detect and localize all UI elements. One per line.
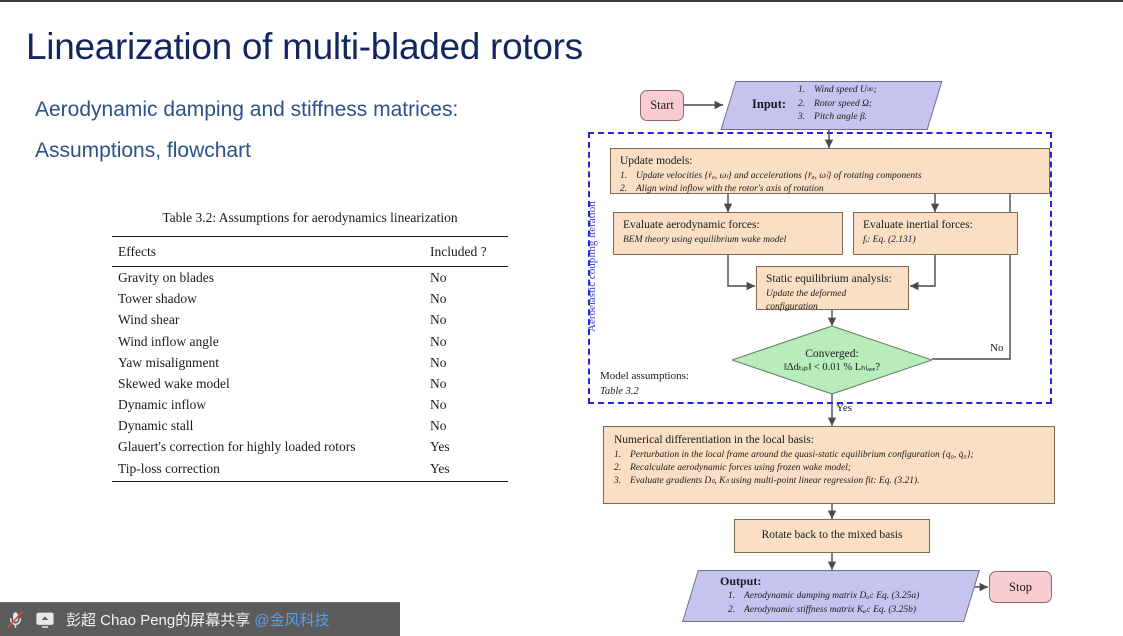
sharer-name: 彭超 Chao Peng的屏幕共享 — [66, 612, 254, 629]
table-cell-included: No — [426, 309, 508, 330]
list-number: 2. — [728, 603, 744, 617]
static-equilibrium-title: Static equilibrium analysis: — [766, 272, 899, 288]
table-cell-included: No — [426, 288, 508, 309]
aerodynamic-forces-title: Evaluate aerodynamic forces: — [623, 218, 833, 234]
update-models-list-item: 1.Update velocities {ṙₐ, ωₗ} and acceler… — [620, 170, 1040, 183]
numerical-differentiation-title: Numerical differentiation in the local b… — [614, 433, 1044, 449]
microphone-muted-icon[interactable] — [0, 610, 30, 629]
numerical-differentiation-item-list: 1.Perturbation in the local frame around… — [614, 449, 1044, 489]
input-node[interactable]: Input: 1.Wind speed U∞;2.Rotor speed Ω;3… — [728, 81, 933, 128]
input-item-list: 1.Wind speed U∞;2.Rotor speed Ω;3.Pitch … — [798, 84, 877, 125]
list-text: Recalculate aerodynamic forces using fro… — [630, 462, 851, 475]
table-row: Yaw misalignmentNo — [112, 352, 508, 373]
screen-share-icon[interactable] — [30, 611, 60, 629]
inertial-forces-sub: fᵢ: Eq. (2.131) — [863, 234, 1008, 247]
table-header-cell: Effects — [112, 237, 426, 267]
table-row: Glauert's correction for highly loaded r… — [112, 436, 508, 457]
sharer-handle: @金风科技 — [254, 612, 329, 629]
list-text: Perturbation in the local frame around t… — [630, 449, 974, 462]
assumptions-table-block: Table 3.2: Assumptions for aerodynamics … — [112, 210, 508, 482]
table-cell-effect: Dynamic inflow — [112, 394, 426, 415]
output-node[interactable]: Output: 1.Aerodynamic damping matrix Dₐₗ… — [690, 570, 970, 620]
rotate-back-node[interactable]: Rotate back to the mixed basis — [734, 519, 930, 553]
numerical-differentiation-list-item: 2.Recalculate aerodynamic forces using f… — [614, 462, 1044, 475]
list-text: Evaluate gradients Dₗₗ, Kₗₗ using multi-… — [630, 475, 920, 488]
list-number: 2. — [614, 462, 630, 475]
table-row: Wind inflow angleNo — [112, 331, 508, 352]
table-cell-effect: Gravity on blades — [112, 267, 426, 289]
table-cell-effect: Wind inflow angle — [112, 331, 426, 352]
table-bottom-rule — [112, 481, 508, 482]
convergence-decision-node[interactable]: Converged: ‖Δdₜᵢₚ‖ < 0.01 % Lₕₗₐₑₑ? — [732, 326, 932, 394]
table-header-row: EffectsIncluded ? — [112, 237, 508, 267]
numerical-differentiation-list-item: 1.Perturbation in the local frame around… — [614, 449, 1044, 462]
list-text: Aerodynamic stiffness matrix Kₐₗ: Eq. (3… — [744, 603, 916, 617]
page-title: Linearization of multi-bladed rotors — [26, 26, 583, 68]
decision-line-1: Converged: — [805, 348, 858, 360]
static-equilibrium-sub: Update the deformed configuration — [766, 288, 899, 315]
table-cell-included: No — [426, 415, 508, 436]
assumptions-table-body: EffectsIncluded ?Gravity on bladesNoTowe… — [112, 237, 508, 479]
subtitle-line-2: Assumptions, flowchart — [35, 139, 251, 163]
decision-line-2: ‖Δdₜᵢₚ‖ < 0.01 % Lₕₗₐₑₑ? — [784, 361, 880, 373]
table-row: Gravity on bladesNo — [112, 267, 508, 289]
inertial-forces-node[interactable]: Evaluate inertial forces: fᵢ: Eq. (2.131… — [853, 212, 1018, 255]
table-cell-included: Yes — [426, 436, 508, 457]
assumptions-table: EffectsIncluded ?Gravity on bladesNoTowe… — [112, 236, 508, 479]
input-list-item: 2.Rotor speed Ω; — [798, 98, 877, 112]
output-list-item: 2.Aerodynamic stiffness matrix Kₐₗ: Eq. … — [728, 603, 970, 617]
stop-node[interactable]: Stop — [989, 571, 1052, 603]
list-number: 2. — [620, 183, 636, 196]
update-models-title: Update models: — [620, 154, 1040, 170]
list-number: 3. — [798, 111, 814, 125]
list-number: 1. — [798, 84, 814, 98]
slide-canvas: Linearization of multi-bladed rotors Aer… — [0, 0, 1123, 636]
numerical-differentiation-list-item: 3.Evaluate gradients Dₗₗ, Kₗₗ using mult… — [614, 475, 1044, 488]
screen-share-status-bar: 彭超 Chao Peng的屏幕共享 @金风科技 — [0, 602, 400, 636]
table-cell-effect: Tower shadow — [112, 288, 426, 309]
list-number: 1. — [620, 170, 636, 183]
table-row: Dynamic stallNo — [112, 415, 508, 436]
decision-yes-label: Yes — [836, 402, 852, 414]
numerical-differentiation-node[interactable]: Numerical differentiation in the local b… — [603, 426, 1055, 504]
list-number: 1. — [728, 589, 744, 603]
table-row: Wind shearNo — [112, 309, 508, 330]
table-row: Dynamic inflowNo — [112, 394, 508, 415]
update-models-node[interactable]: Update models: 1.Update velocities {ṙₐ, … — [610, 148, 1050, 194]
table-cell-effect: Wind shear — [112, 309, 426, 330]
output-list-item: 1.Aerodynamic damping matrix Dₐₗ: Eq. (3… — [728, 589, 970, 603]
start-node[interactable]: Start — [640, 90, 684, 121]
table-row: Skewed wake modelNo — [112, 373, 508, 394]
table-row: Tower shadowNo — [112, 288, 508, 309]
input-list-item: 1.Wind speed U∞; — [798, 84, 877, 98]
table-cell-effect: Tip-loss correction — [112, 458, 426, 479]
table-cell-included: No — [426, 373, 508, 394]
update-models-list-item: 2.Align wind inflow with the rotor's axi… — [620, 183, 1040, 196]
table-row: Tip-loss correctionYes — [112, 458, 508, 479]
aerodynamic-forces-node[interactable]: Evaluate aerodynamic forces: BEM theory … — [613, 212, 843, 255]
list-number: 3. — [614, 475, 630, 488]
table-cell-effect: Yaw misalignment — [112, 352, 426, 373]
table-caption: Table 3.2: Assumptions for aerodynamics … — [112, 210, 508, 226]
share-status-text: 彭超 Chao Peng的屏幕共享 @金风科技 — [66, 609, 330, 630]
list-text: Rotor speed Ω; — [814, 98, 872, 112]
static-equilibrium-node[interactable]: Static equilibrium analysis: Update the … — [756, 266, 909, 310]
list-number: 1. — [614, 449, 630, 462]
list-text: Align wind inflow with the rotor's axis … — [636, 183, 824, 196]
output-label: Output: — [720, 574, 970, 589]
table-cell-included: No — [426, 331, 508, 352]
flowchart: Aeroelastic coupling iteration Model ass… — [580, 64, 1123, 624]
input-label: Input: — [752, 97, 786, 112]
table-cell-included: No — [426, 394, 508, 415]
update-models-item-list: 1.Update velocities {ṙₐ, ωₗ} and acceler… — [620, 170, 1040, 197]
subtitle-line-1: Aerodynamic damping and stiffness matric… — [35, 98, 458, 122]
table-header-cell: Included ? — [426, 237, 508, 267]
list-text: Aerodynamic damping matrix Dₐₗ: Eq. (3.2… — [744, 589, 919, 603]
table-cell-included: No — [426, 267, 508, 289]
decision-no-label: No — [990, 342, 1003, 354]
rotate-back-label: Rotate back to the mixed basis — [762, 528, 903, 544]
aerodynamic-forces-sub: BEM theory using equilibrium wake model — [623, 234, 833, 247]
table-cell-effect: Glauert's correction for highly loaded r… — [112, 436, 426, 457]
list-text: Pitch angle β. — [814, 111, 867, 125]
list-number: 2. — [798, 98, 814, 112]
table-cell-effect: Dynamic stall — [112, 415, 426, 436]
table-cell-included: No — [426, 352, 508, 373]
output-item-list: 1.Aerodynamic damping matrix Dₐₗ: Eq. (3… — [728, 589, 970, 618]
table-cell-effect: Skewed wake model — [112, 373, 426, 394]
table-cell-included: Yes — [426, 458, 508, 479]
inertial-forces-title: Evaluate inertial forces: — [863, 218, 1008, 234]
list-text: Wind speed U∞; — [814, 84, 877, 98]
list-text: Update velocities {ṙₐ, ωₗ} and accelerat… — [636, 170, 922, 183]
input-list-item: 3.Pitch angle β. — [798, 111, 877, 125]
